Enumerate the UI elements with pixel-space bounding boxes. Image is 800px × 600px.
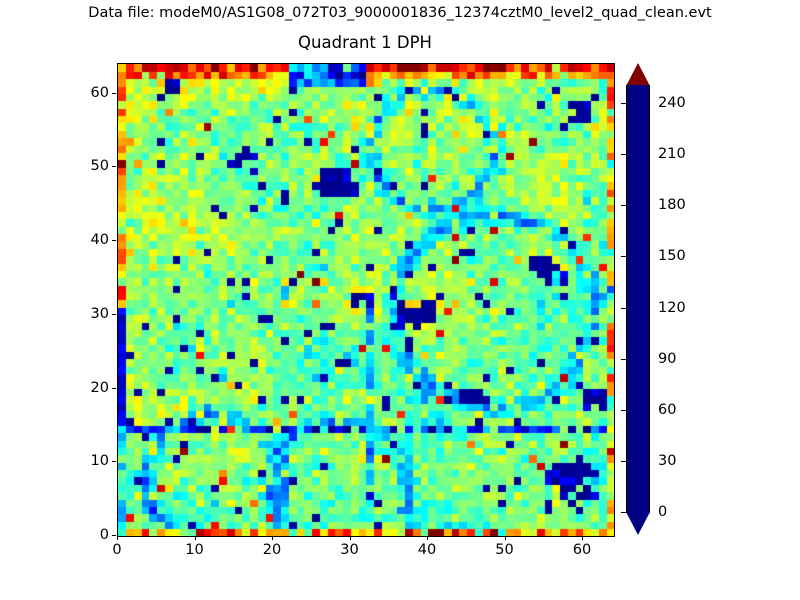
heatmap-axes[interactable] [117, 63, 615, 537]
colorbar-tick [621, 154, 626, 155]
y-axis-tick-label: 30 [77, 306, 109, 322]
colorbar-tick-label: 90 [658, 351, 676, 367]
colorbar-extend-bottom-arrow [626, 512, 650, 535]
x-axis-tick [117, 536, 118, 540]
y-axis-tick-label: 10 [77, 453, 109, 469]
colorbar-tick-label: 150 [658, 248, 686, 264]
x-axis-tick [427, 536, 428, 540]
heatmap-image[interactable] [118, 64, 614, 536]
colorbar-tick-label: 120 [658, 300, 686, 316]
x-axis-tick [350, 536, 351, 540]
colorbar-tick [621, 308, 626, 309]
x-axis-tick-label: 0 [112, 542, 121, 558]
y-axis-tick [112, 388, 116, 389]
colorbar-tick-label: 0 [658, 504, 667, 520]
colorbar-gradient [626, 85, 650, 513]
y-axis-tick-label: 20 [77, 380, 109, 396]
figure-canvas: Data file: modeM0/AS1G08_072T03_90000018… [0, 0, 800, 600]
x-axis-tick-label: 50 [495, 542, 513, 558]
x-axis-tick [195, 536, 196, 540]
y-axis-tick [112, 240, 116, 241]
colorbar-tick [621, 512, 626, 513]
x-axis-tick-label: 60 [573, 542, 591, 558]
y-axis-tick [112, 461, 116, 462]
colorbar-extend-top-arrow [626, 63, 650, 86]
x-axis-tick-label: 40 [418, 542, 436, 558]
x-axis-tick-label: 20 [263, 542, 281, 558]
y-axis-tick-label: 60 [77, 85, 109, 101]
colorbar-tick [621, 461, 626, 462]
colorbar-tick [621, 256, 626, 257]
colorbar-tick-label: 240 [658, 95, 686, 111]
y-axis-tick [112, 535, 116, 536]
y-axis-tick [112, 314, 116, 315]
colorbar-tick-label: 180 [658, 197, 686, 213]
colorbar-tick [621, 103, 626, 104]
x-axis-tick [582, 536, 583, 540]
colorbar-tick [621, 205, 626, 206]
y-axis-tick [112, 166, 116, 167]
x-axis-tick [505, 536, 506, 540]
y-axis-tick-label: 40 [77, 232, 109, 248]
x-axis-tick [272, 536, 273, 540]
page-title: Quadrant 1 DPH [117, 33, 613, 52]
colorbar-tick [621, 410, 626, 411]
x-axis-tick-label: 10 [185, 542, 203, 558]
colorbar[interactable] [626, 63, 650, 535]
y-axis-tick [112, 93, 116, 94]
colorbar-tick-label: 60 [658, 402, 676, 418]
colorbar-tick [621, 359, 626, 360]
data-file-label: Data file: modeM0/AS1G08_072T03_90000018… [0, 5, 800, 21]
y-axis-tick-label: 50 [77, 158, 109, 174]
y-axis-tick-label: 0 [77, 527, 109, 543]
colorbar-tick-label: 210 [658, 146, 686, 162]
colorbar-tick-label: 30 [658, 453, 676, 469]
x-axis-tick-label: 30 [340, 542, 358, 558]
